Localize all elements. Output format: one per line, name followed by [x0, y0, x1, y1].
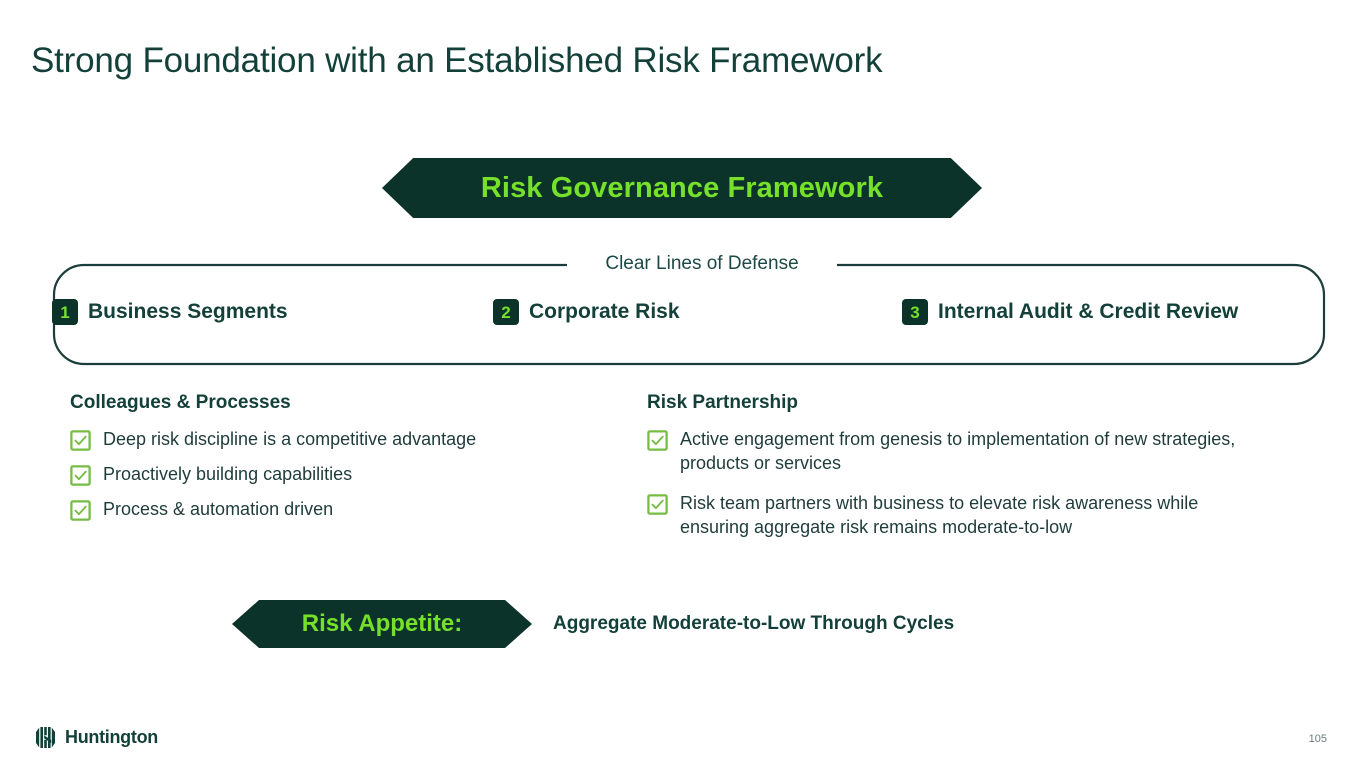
checkbox-checked-icon: [647, 494, 668, 515]
slide-root: { "slide": { "title": "Strong Foundation…: [0, 0, 1365, 768]
list-item-text: Deep risk discipline is a competitive ad…: [103, 428, 476, 452]
clear-lines-of-defense-group: Clear Lines of Defense 1 Business Segmen…: [52, 263, 1326, 366]
list-item: Process & automation driven: [70, 498, 630, 522]
column-heading: Risk Partnership: [647, 392, 1267, 414]
list-item: Deep risk discipline is a competitive ad…: [70, 428, 630, 452]
defense-number-badge: 3: [902, 299, 928, 325]
list-item-text: Proactively building capabilities: [103, 463, 352, 487]
defense-number-badge: 1: [52, 299, 78, 325]
defense-item-label: Internal Audit & Credit Review: [938, 300, 1238, 324]
checkbox-checked-icon: [70, 500, 91, 521]
clear-lines-of-defense-label: Clear Lines of Defense: [567, 253, 837, 275]
list-item-text: Risk team partners with business to elev…: [680, 492, 1267, 540]
checkbox-checked-icon: [70, 465, 91, 486]
defense-number-badge: 2: [493, 299, 519, 325]
list-item: Proactively building capabilities: [70, 463, 630, 487]
list-item-text: Process & automation driven: [103, 498, 333, 522]
huntington-logomark-icon: [33, 726, 58, 749]
brand-logo: Huntington: [33, 726, 158, 749]
page-title: Strong Foundation with an Established Ri…: [31, 41, 882, 81]
risk-governance-framework-banner: Risk Governance Framework: [382, 158, 982, 218]
column-colleagues-processes: Colleagues & Processes Deep risk discipl…: [70, 392, 630, 533]
list-item: Active engagement from genesis to implem…: [647, 428, 1267, 476]
list-item: Risk team partners with business to elev…: [647, 492, 1267, 540]
column-heading: Colleagues & Processes: [70, 392, 630, 414]
defense-item-internal-audit-credit-review[interactable]: 3 Internal Audit & Credit Review: [902, 299, 1238, 325]
lines-of-defense-row: 1 Business Segments 2 Corporate Risk 3 I…: [52, 299, 1326, 339]
column-risk-partnership: Risk Partnership Active engagement from …: [647, 392, 1267, 556]
defense-item-label: Corporate Risk: [529, 300, 680, 324]
checkbox-checked-icon: [70, 430, 91, 451]
defense-item-corporate-risk[interactable]: 2 Corporate Risk: [493, 299, 680, 325]
risk-governance-framework-label: Risk Governance Framework: [481, 172, 883, 205]
checkbox-checked-icon: [647, 430, 668, 451]
defense-item-label: Business Segments: [88, 300, 288, 324]
risk-appetite-row: Risk Appetite: Aggregate Moderate-to-Low…: [232, 600, 954, 648]
brand-name: Huntington: [65, 727, 158, 748]
risk-appetite-note: Aggregate Moderate-to-Low Through Cycles: [553, 613, 954, 635]
defense-item-business-segments[interactable]: 1 Business Segments: [52, 299, 288, 325]
list-item-text: Active engagement from genesis to implem…: [680, 428, 1267, 476]
page-number: 105: [1309, 733, 1327, 745]
risk-appetite-banner: Risk Appetite:: [232, 600, 532, 648]
risk-appetite-label: Risk Appetite:: [302, 610, 462, 638]
